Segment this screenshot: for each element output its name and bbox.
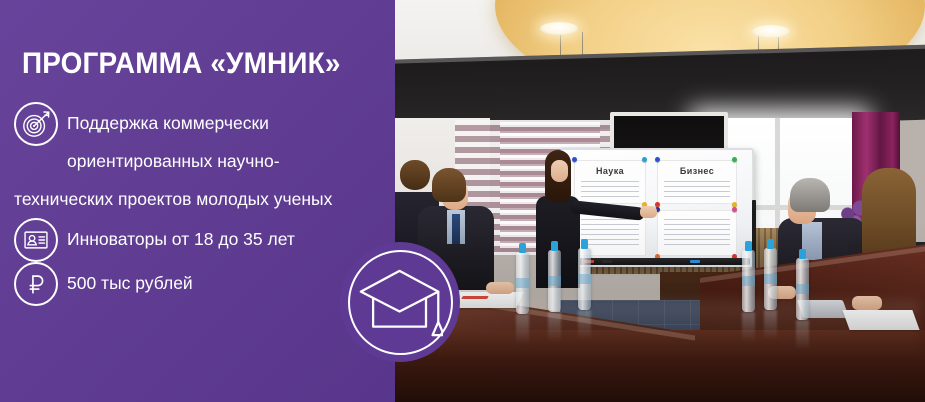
program-banner: Наука Бизнес: [0, 0, 925, 402]
list-item: Инноваторы от 18 до 35 лет: [14, 220, 334, 262]
benefits-list: Поддержка коммерчески ориентированных на…: [14, 104, 334, 308]
list-item: Поддержка коммерчески ориентированных на…: [14, 104, 334, 218]
list-item-label: Поддержка коммерчески ориентированных на…: [14, 113, 332, 209]
photo-vignette: [380, 0, 925, 402]
id-card-icon: [14, 218, 58, 262]
target-arrow-icon: [14, 102, 58, 146]
page-title: ПРОГРАММА «УМНИК»: [22, 48, 348, 80]
list-item: 500 тыс рублей: [14, 264, 334, 306]
graduation-cap-icon: [358, 262, 443, 344]
ruble-icon: [14, 262, 58, 306]
list-item-label: Инноваторы от 18 до 35 лет: [67, 229, 295, 249]
list-item-label: 500 тыс рублей: [67, 273, 193, 293]
